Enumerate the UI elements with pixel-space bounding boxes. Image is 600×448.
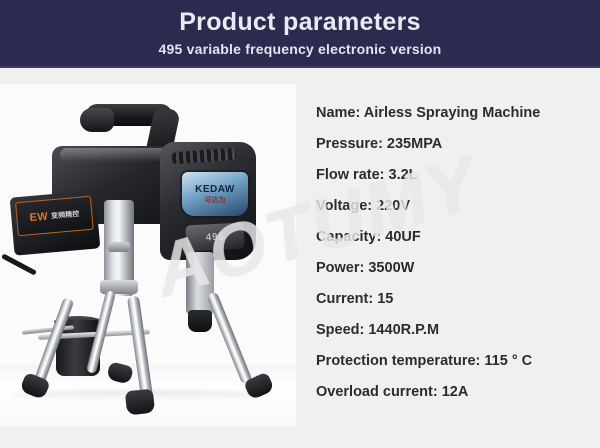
- model-plate-text: 495: [205, 231, 224, 243]
- stand-leg-back-right: [206, 291, 252, 384]
- brand-badge: KEDAW 可达为: [182, 172, 248, 216]
- page-subtitle: 495 variable frequency electronic versio…: [159, 42, 442, 56]
- spec-row: Voltage: 220V: [316, 199, 594, 230]
- content-area: KEDAW 可达为 495 EW 变频精控: [0, 68, 600, 448]
- power-cord: [1, 253, 37, 275]
- brand-badge-sub: 可达为: [205, 197, 226, 204]
- specification-list: Name: Airless Spraying Machine Pressure:…: [316, 106, 594, 416]
- spec-row: Protection temperature: 115 ° C: [316, 354, 594, 385]
- header-banner: Product parameters 495 variable frequenc…: [0, 0, 600, 68]
- spec-row: Pressure: 235MPA: [316, 137, 594, 168]
- spec-row: Speed: 1440R.P.M: [316, 323, 594, 354]
- page-title: Product parameters: [179, 10, 421, 35]
- pump-nut: [108, 242, 130, 252]
- spec-row: Capacity: 40UF: [316, 230, 594, 261]
- product-photo: KEDAW 可达为 495 EW 变频精控: [0, 84, 296, 426]
- spec-row: Name: Airless Spraying Machine: [316, 106, 594, 137]
- brand-badge-name: KEDAW: [195, 185, 235, 195]
- spec-row: Flow rate: 3.2L: [316, 168, 594, 199]
- spec-row: Current: 15: [316, 292, 594, 323]
- control-box-face: EW 变频精控: [15, 196, 94, 236]
- handle-grip: [80, 108, 114, 132]
- stand-leg-front-right: [127, 296, 153, 399]
- rubber-foot-front-right: [125, 389, 155, 416]
- sprayer-machine-illustration: KEDAW 可达为 495 EW 变频精控: [0, 84, 296, 426]
- control-box-sub: 变频精控: [51, 209, 80, 221]
- rubber-foot-back-left: [106, 361, 134, 384]
- control-box-logo: EW: [29, 211, 49, 225]
- control-box: EW 变频精控: [10, 190, 101, 255]
- spec-row: Power: 3500W: [316, 261, 594, 292]
- outlet-tip: [188, 310, 212, 332]
- spec-row: Overload current: 12A: [316, 385, 594, 416]
- model-plate: 495: [185, 223, 244, 252]
